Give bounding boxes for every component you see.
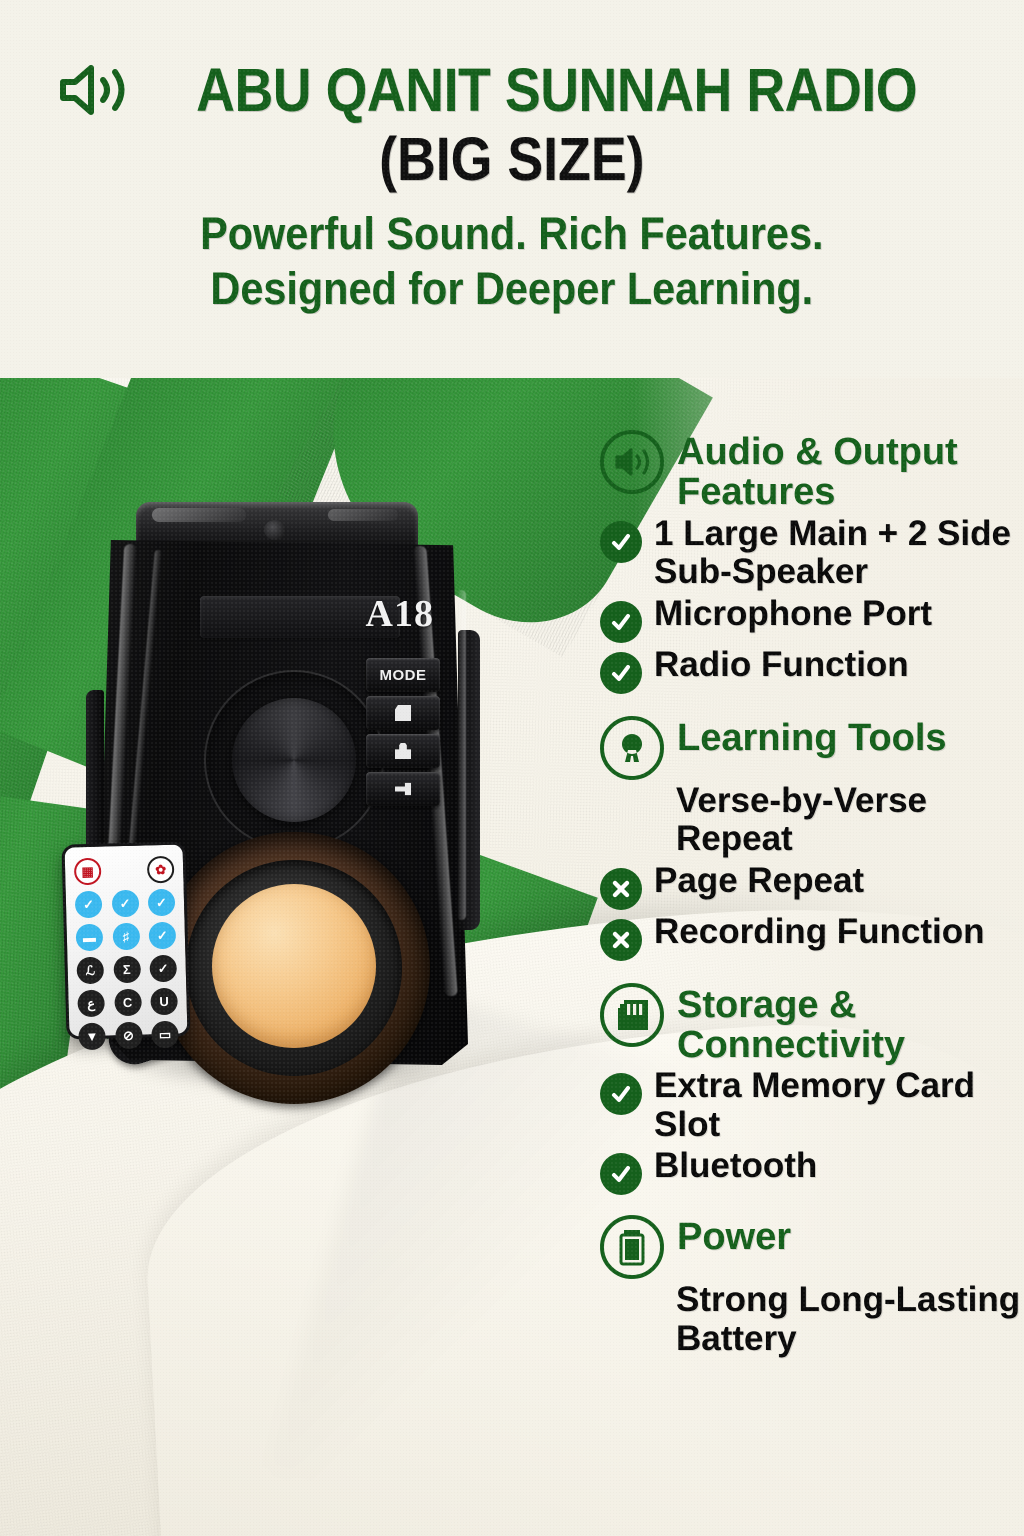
feature-text: Page Repeat: [654, 862, 864, 901]
feature-text: 1 Large Main + 2 Side Sub-Speaker: [654, 515, 1024, 592]
remote-row: ✓ ✓ ✓: [75, 889, 176, 919]
remote-button[interactable]: ✓: [149, 922, 177, 950]
feature-text: Extra Memory Card Slot: [654, 1067, 1024, 1144]
remote-row: ℒ Ʃ ✓: [76, 955, 177, 985]
sd-card-icon: [600, 983, 664, 1047]
volume-knob[interactable]: [232, 698, 356, 822]
feature-text: Recording Function: [654, 913, 985, 952]
remote-button[interactable]: ✓: [111, 890, 139, 918]
remote-button[interactable]: ⊘: [115, 1022, 143, 1050]
feature-section-storage: Storage & Connectivity Extra Memory Card…: [600, 983, 1024, 1196]
main-woofer: [158, 832, 430, 1104]
remote-button[interactable]: ▭: [151, 1021, 179, 1049]
check-icon: [600, 652, 642, 694]
section-items: Extra Memory Card Slot Bluetooth: [600, 1067, 1024, 1195]
lock-button[interactable]: [366, 734, 440, 768]
section-title: Power: [677, 1215, 791, 1257]
model-label: A18: [366, 592, 434, 636]
feature-text: Strong Long-Lasting Battery: [676, 1281, 1024, 1358]
remote-spacer: [110, 857, 138, 885]
feature-item: Recording Function: [600, 913, 1024, 961]
remote-button[interactable]: ♯: [112, 923, 140, 951]
section-header: Power: [600, 1215, 1024, 1279]
feature-item: Microphone Port: [600, 595, 1024, 643]
woofer-cone: [212, 884, 376, 1048]
control-button-stack[interactable]: MODE: [366, 658, 440, 810]
speaker-wave-icon: [57, 60, 131, 125]
feature-text: Verse-by-Verse Repeat: [676, 782, 1024, 859]
remote-button[interactable]: ✓: [149, 955, 177, 983]
feature-item: Bluetooth: [600, 1147, 1024, 1195]
feature-item: 1 Large Main + 2 Side Sub-Speaker: [600, 515, 1024, 592]
remote-row: ▦ ✿: [74, 856, 175, 886]
remote-button[interactable]: ▼: [78, 1023, 106, 1051]
cross-icon: [600, 868, 642, 910]
remote-button[interactable]: ✓: [148, 889, 176, 917]
plug-icon: [395, 781, 411, 797]
check-icon: [600, 1153, 642, 1195]
top-gloss: [152, 508, 246, 522]
remote-button[interactable]: C: [114, 989, 142, 1017]
tagline-line-2: Designed for Deeper Learning.: [200, 262, 823, 317]
section-header: Learning Tools: [600, 716, 1024, 780]
learning-head-icon: [600, 716, 664, 780]
body-highlight: [457, 590, 466, 920]
feature-section-power: Power Strong Long-Lasting Battery: [600, 1215, 1024, 1358]
feature-item: Strong Long-Lasting Battery: [676, 1281, 1024, 1358]
page-subtitle: (BIG SIZE): [379, 127, 644, 193]
feature-text: Bluetooth: [654, 1147, 817, 1186]
remote-row: ع C U: [77, 988, 178, 1018]
remote-button[interactable]: ✿: [147, 856, 175, 884]
mode-button[interactable]: MODE: [366, 658, 440, 692]
section-title: Learning Tools: [677, 716, 947, 758]
top-gloss: [328, 509, 398, 521]
feature-section-audio: Audio & Output Features 1 Large Main + 2…: [600, 430, 1024, 694]
cross-icon: [600, 919, 642, 961]
sd-card-icon: [395, 705, 411, 721]
feature-item: Page Repeat: [600, 862, 1024, 910]
section-items: Strong Long-Lasting Battery: [600, 1281, 1024, 1358]
feature-item: Verse-by-Verse Repeat: [676, 782, 1024, 859]
check-icon: [600, 1073, 642, 1115]
speaker-wave-icon: [600, 430, 664, 494]
tagline: Powerful Sound. Rich Features. Designed …: [200, 207, 823, 317]
remote-button[interactable]: ✓: [75, 891, 103, 919]
feature-item: Extra Memory Card Slot: [600, 1067, 1024, 1144]
section-header: Storage & Connectivity: [600, 983, 1024, 1066]
feature-text: Radio Function: [654, 646, 909, 685]
remote-button[interactable]: ▬: [76, 924, 104, 952]
title-row: ABU QANIT SUNNAH RADIO: [0, 56, 1024, 125]
antenna-port: [264, 520, 286, 540]
header: ABU QANIT SUNNAH RADIO (BIG SIZE) Powerf…: [0, 0, 1024, 378]
power-button[interactable]: [366, 772, 440, 806]
sd-card-button[interactable]: [366, 696, 440, 730]
tagline-line-1: Powerful Sound. Rich Features.: [200, 207, 823, 262]
feature-item: Radio Function: [600, 646, 1024, 694]
section-title: Storage & Connectivity: [677, 983, 1024, 1066]
battery-icon: [600, 1215, 664, 1279]
check-icon: [600, 601, 642, 643]
remote-row: ▼ ⊘ ▭: [78, 1021, 179, 1051]
lock-icon: [395, 743, 411, 759]
feature-list: Audio & Output Features 1 Large Main + 2…: [600, 430, 1024, 1364]
feature-text: Microphone Port: [654, 595, 932, 634]
remote-button[interactable]: Ʃ: [113, 956, 141, 984]
page-title: ABU QANIT SUNNAH RADIO: [197, 60, 918, 121]
remote-row: ▬ ♯ ✓: [76, 922, 177, 952]
remote-button[interactable]: ℒ: [76, 957, 104, 985]
remote-button[interactable]: ع: [77, 990, 105, 1018]
section-items: 1 Large Main + 2 Side Sub-Speaker Microp…: [600, 515, 1024, 694]
remote-button[interactable]: ▦: [74, 858, 102, 886]
section-title: Audio & Output Features: [677, 430, 1024, 513]
remote-button[interactable]: U: [150, 988, 178, 1016]
feature-section-learning: Learning Tools Verse-by-Verse Repeat Pag…: [600, 716, 1024, 961]
section-items: Verse-by-Verse Repeat Page Repeat Record…: [600, 782, 1024, 961]
check-icon: [600, 521, 642, 563]
remote-control[interactable]: ▦ ✿ ✓ ✓ ✓ ▬ ♯ ✓ ℒ Ʃ ✓ ع C U ▼ ⊘ ▭: [61, 841, 190, 1039]
section-header: Audio & Output Features: [600, 430, 1024, 513]
